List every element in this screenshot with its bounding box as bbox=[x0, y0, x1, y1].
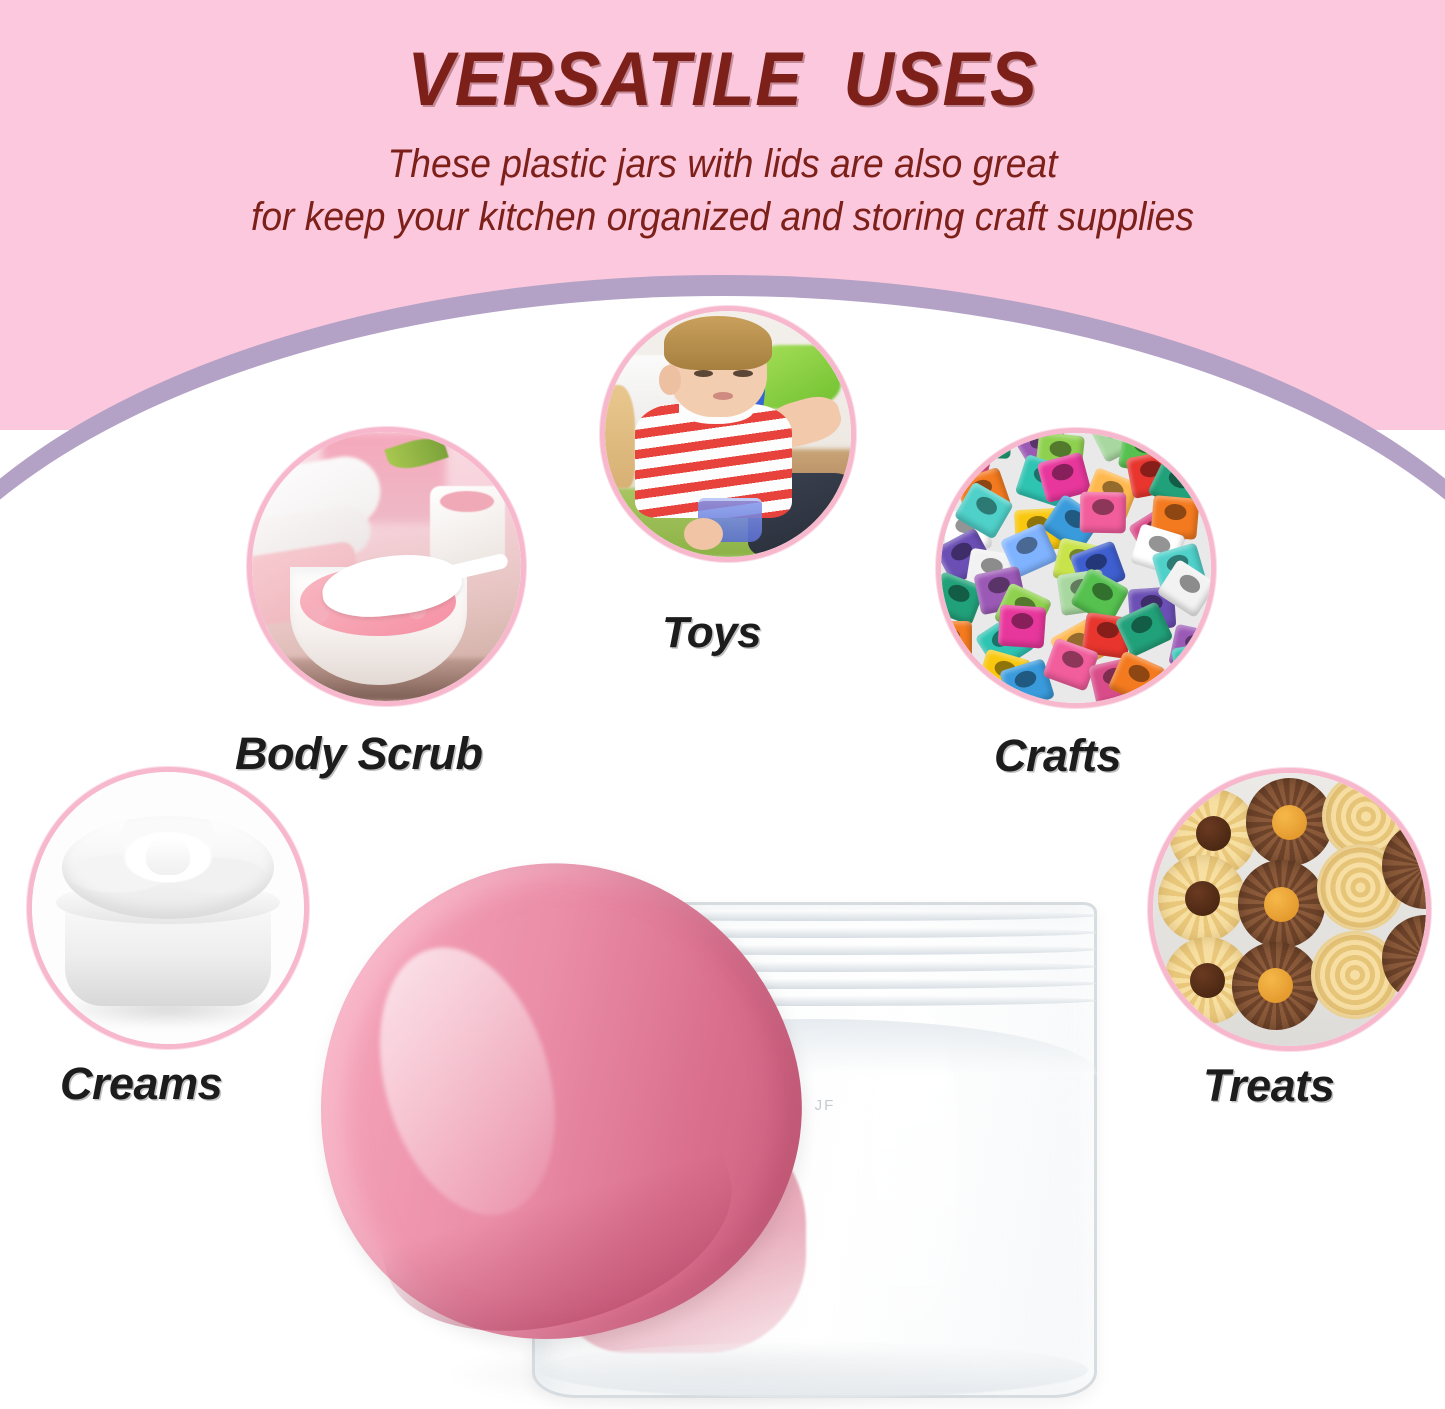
use-case-image-creams bbox=[27, 767, 309, 1049]
use-case-image-body-scrub bbox=[247, 427, 526, 706]
infographic-canvas: VERSATILE USES These plastic jars with l… bbox=[0, 0, 1445, 1409]
crafts-photo bbox=[941, 433, 1211, 703]
use-case-label-creams: Creams bbox=[60, 1058, 222, 1110]
use-case-image-crafts bbox=[936, 428, 1216, 708]
toys-photo bbox=[605, 311, 851, 557]
use-case-image-treats bbox=[1148, 768, 1431, 1051]
body-scrub-photo bbox=[252, 432, 521, 701]
treats-photo bbox=[1153, 773, 1426, 1046]
product-image-jar-with-lid: JF bbox=[300, 852, 1130, 1409]
page-title: VERSATILE USES bbox=[58, 38, 1387, 122]
use-case-label-crafts: Crafts bbox=[994, 730, 1121, 782]
jar-embossed-mark: JF bbox=[815, 1097, 836, 1114]
creams-photo bbox=[32, 772, 304, 1044]
use-case-label-body-scrub: Body Scrub bbox=[235, 728, 483, 780]
use-case-label-treats: Treats bbox=[1203, 1060, 1334, 1112]
use-case-label-toys: Toys bbox=[662, 608, 761, 658]
use-case-image-toys bbox=[600, 306, 856, 562]
jar-base bbox=[541, 1342, 1089, 1398]
page-subtitle: These plastic jars with lids are also gr… bbox=[51, 138, 1395, 244]
